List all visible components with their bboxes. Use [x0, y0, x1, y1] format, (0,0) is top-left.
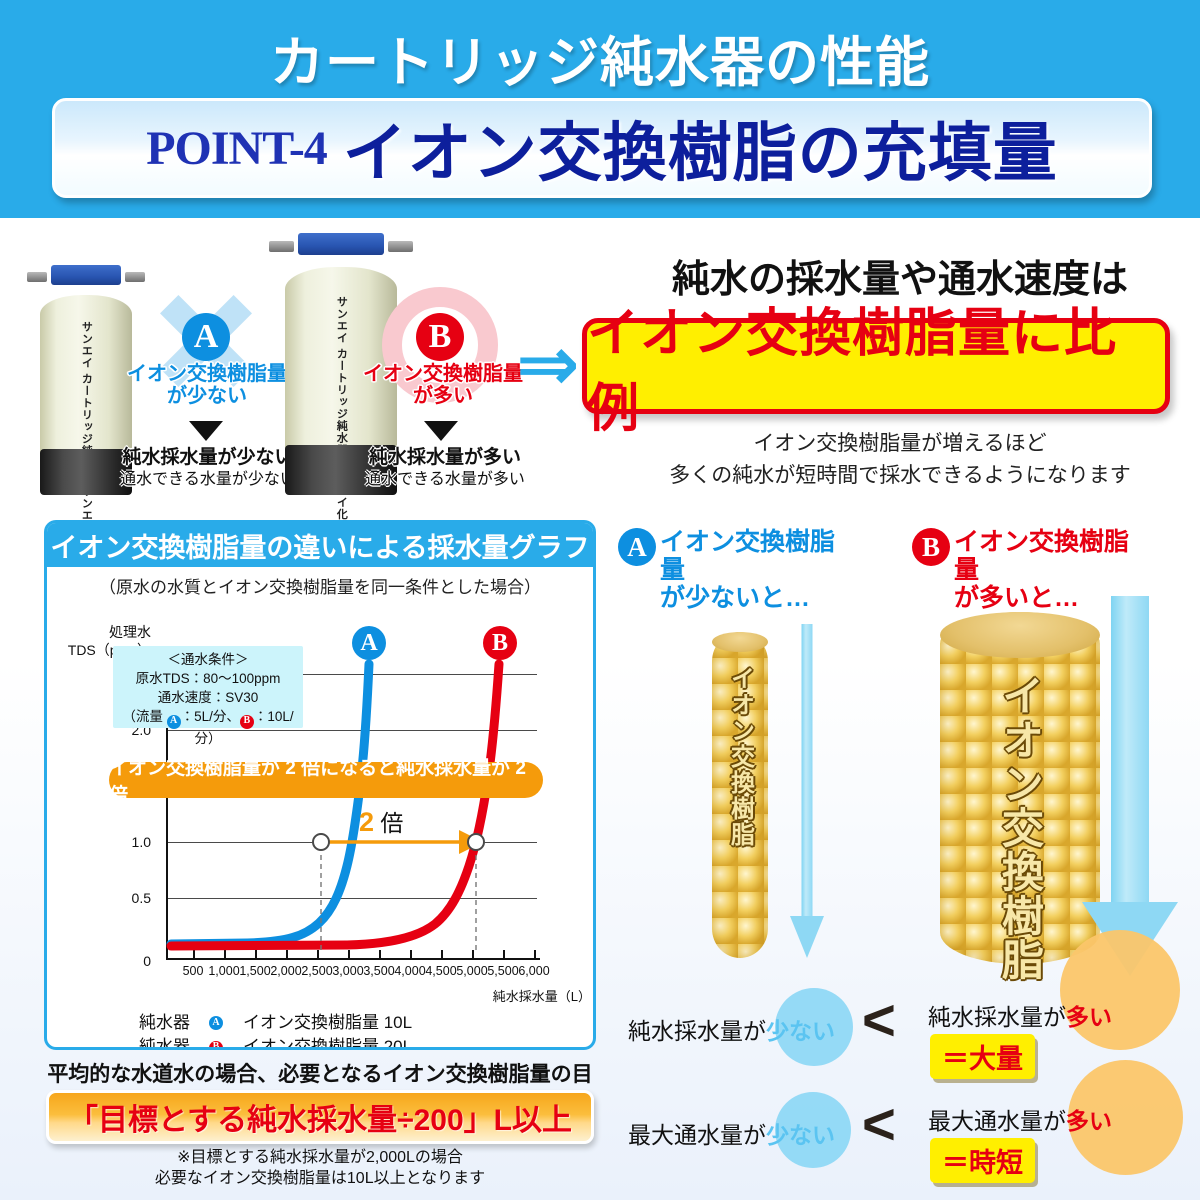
products-section: サンエイ カートリッジ純水器 サンエイ化学株式会社 A イオン交換樹脂量 が少な… — [0, 225, 600, 510]
tank-b-valve-head — [298, 233, 383, 255]
tank-b-result: 純水採水量が多い 通水できる水量が多い — [330, 447, 560, 489]
point-bar: POINT-4 イオン交換樹脂の充填量 — [52, 98, 1152, 198]
chart-badge-b: B — [483, 626, 517, 660]
formula-banner: 「目標とする純水採水量÷200」L以上 — [46, 1090, 594, 1144]
comparison-2-left-prefix: 最大通水量が — [628, 1122, 766, 1148]
point-heading: イオン交換樹脂の充填量 — [343, 102, 1058, 194]
tank-a-inlet-pipe — [27, 272, 47, 282]
column-a-heading-line2: が少ないと… — [660, 584, 810, 612]
chart-legend: 純水器 A イオン交換樹脂量 10L 純水器 B イオン交換樹脂量 20L — [139, 1011, 412, 1050]
formula-note: ※目標とする純水採水量が2,000Lの場合 必要なイオン交換樹脂量は10L以上と… — [40, 1148, 600, 1190]
chart-panel: イオン交換樹脂量の違いによる採水量グラフ （原水の水質とイオン交換樹脂量を同一条… — [44, 520, 596, 1050]
flow-arrow-a-head — [790, 916, 824, 958]
tank-a-caption-line1: イオン交換樹脂量 — [127, 363, 287, 385]
formula-banner-text: 「目標とする純水採水量÷200」L以上 — [68, 1095, 572, 1139]
comparison-1-right-prefix: 純水採水量が — [928, 1004, 1066, 1030]
comparison-2-left-emphasis: 少ない — [766, 1122, 835, 1148]
conditions-line3-prefix: （流量 — [122, 709, 166, 724]
arrow-right-icon: ⇒ — [516, 330, 580, 400]
comparison-1-right-emphasis: 多い — [1066, 1004, 1112, 1030]
chart-plot-area: 処理水 TDS（ppm） 2.5 2.0 1.5 1.0 0.5 0 500 — [47, 598, 596, 1050]
tank-b-outlet-pipe — [388, 241, 413, 252]
tank-b-result-sub: 通水できる水量が多い — [330, 470, 560, 489]
comparison-2-right-prefix: 最大通水量が — [928, 1108, 1066, 1134]
column-a-heading-line1: イオン交換樹脂量 — [660, 528, 835, 584]
proportional-banner: イオン交換樹脂量に比例 — [582, 318, 1170, 414]
comparison-1-left-prefix: 純水採水量が — [628, 1018, 766, 1044]
tank-b-caption-line1: イオン交換樹脂量 — [363, 363, 523, 385]
flow-arrow-a — [790, 624, 824, 958]
resin-column-a-label: イオン交換樹脂 — [723, 666, 758, 848]
conditions-line1: 原水TDS：80〜100ppm — [113, 669, 303, 688]
double-resin-pill: イオン交換樹脂量が 2 倍になると純水採水量が 2 倍 — [109, 762, 543, 798]
column-b-heading-line1: イオン交換樹脂量 — [954, 528, 1129, 584]
tank-b-inlet-pipe — [269, 241, 294, 252]
flow-arrow-a-shaft — [802, 624, 813, 918]
formula-note-line2: 必要なイオン交換樹脂量は10L以上となります — [155, 1170, 485, 1187]
column-a-heading: A イオン交換樹脂量 が少ないと… — [618, 528, 848, 612]
column-a-badge: A — [618, 528, 656, 566]
formula-note-line1: ※目標とする純水採水量が2,000Lの場合 — [177, 1149, 463, 1166]
conditions-title: ＜通水条件＞ — [113, 650, 303, 669]
double-annotation-value: 2 — [359, 807, 374, 837]
message-subtext: イオン交換樹脂量が増えるほど 多くの純水が短時間で採水できるようになります — [600, 428, 1200, 491]
chart-title-bar: イオン交換樹脂量の違いによる採水量グラフ — [47, 523, 593, 567]
column-a-heading-text: イオン交換樹脂量 が少ないと… — [660, 528, 848, 612]
conditions-line3: （流量 A：5L/分、B：10L/分） — [113, 707, 303, 747]
tank-a-arrow-icon — [189, 421, 223, 441]
double-annotation-unit: 倍 — [380, 810, 403, 836]
comparison-row-1: 純水採水量が少ない < 純水採水量が多い ＝大量 — [610, 980, 1200, 1090]
mini-badge-a: A — [167, 715, 181, 729]
proportional-banner-text: イオン交換樹脂量に比例 — [587, 291, 1165, 441]
tank-b-result-main: 純水採水量が多い — [330, 447, 560, 470]
flow-arrow-b-shaft — [1111, 596, 1149, 902]
legend-text-a: イオン交換樹脂量 10L — [243, 1011, 412, 1036]
point-number: POINT-4 — [146, 121, 327, 176]
double-annotation: 2 倍 — [359, 804, 403, 838]
badge-a: A — [182, 313, 230, 361]
tank-b-body: サンエイ カートリッジ純水器 サンエイ化学株式会社 — [285, 267, 397, 451]
legend-row-a: 純水器 A イオン交換樹脂量 10L — [139, 1011, 412, 1036]
comparison-1-left-emphasis: 少ない — [766, 1018, 835, 1044]
comparison-row-2: 最大通水量が少ない < 最大通水量が多い ＝時短 — [610, 1090, 1200, 1200]
legend-badge-a: A — [209, 1016, 223, 1030]
resin-column-b-top — [940, 612, 1100, 658]
legend-row-b: 純水器 B イオン交換樹脂量 20L — [139, 1035, 412, 1050]
tank-b-caption: イオン交換樹脂量 が多い — [348, 363, 538, 408]
tank-a-caption-line2: が少ない — [167, 385, 247, 407]
conditions-line3-a-value: ：5L/分、 — [181, 709, 240, 724]
comparison-1-operator: < — [862, 992, 896, 1050]
flow-arrow-b — [1082, 596, 1178, 976]
mini-badge-b: B — [240, 715, 254, 729]
resin-column-a-top — [712, 632, 768, 652]
tank-b-arrow-icon — [424, 421, 458, 441]
comparison-2-left: 最大通水量が少ない — [628, 1116, 835, 1150]
resin-column-b: イオン交換樹脂 — [940, 612, 1100, 964]
comparison-2-operator: < — [862, 1096, 896, 1154]
tank-a-outlet-pipe — [125, 272, 145, 282]
comparison-2-right-emphasis: 多い — [1066, 1108, 1112, 1134]
chart-subtitle: （原水の水質とイオン交換樹脂量を同一条件とした場合） — [47, 573, 593, 598]
double-resin-pill-text: イオン交換樹脂量が 2 倍になると純水採水量が 2 倍 — [109, 753, 543, 807]
tank-a-cap — [40, 265, 132, 299]
badge-b: B — [416, 313, 464, 361]
legend-text-b: イオン交換樹脂量 20L — [243, 1035, 412, 1050]
comparison-1-right: 純水採水量が多い — [928, 998, 1112, 1032]
conditions-line2: 通水速度：SV30 — [113, 688, 303, 707]
legend-badge-b: B — [209, 1041, 223, 1050]
flow-conditions-box: ＜通水条件＞ 原水TDS：80〜100ppm 通水速度：SV30 （流量 A：5… — [113, 646, 303, 728]
message-subtext-line1: イオン交換樹脂量が増えるほど — [753, 432, 1046, 455]
tank-b-cap — [285, 233, 397, 271]
column-b-heading-line2: が多いと… — [954, 584, 1079, 612]
column-b-badge: B — [912, 528, 950, 566]
page-title: カートリッジ純水器の性能 — [0, 18, 1200, 97]
resin-column-b-label: イオン交換樹脂 — [990, 674, 1051, 982]
comparison-2-tag: ＝時短 — [930, 1138, 1035, 1183]
chart-title: イオン交換樹脂量の違いによる採水量グラフ — [50, 526, 589, 565]
resin-column-a: イオン交換樹脂 — [712, 632, 768, 958]
tank-b-caption-line2: が多い — [413, 385, 473, 407]
legend-device-a: 純水器 — [139, 1011, 209, 1036]
comparison-1-left: 純水採水量が少ない — [628, 1012, 835, 1046]
comparison-1-tag: ＝大量 — [930, 1034, 1035, 1079]
legend-device-b: 純水器 — [139, 1035, 209, 1050]
header-banner: カートリッジ純水器の性能 POINT-4 イオン交換樹脂の充填量 — [0, 0, 1200, 218]
tank-a-valve-head — [51, 265, 121, 285]
chart-badge-a: A — [352, 626, 386, 660]
message-subtext-line2: 多くの純水が短時間で採水できるようになります — [669, 464, 1131, 487]
comparison-2-right: 最大通水量が多い — [928, 1102, 1112, 1136]
tank-a-caption: イオン交換樹脂量 が少ない — [100, 363, 314, 408]
